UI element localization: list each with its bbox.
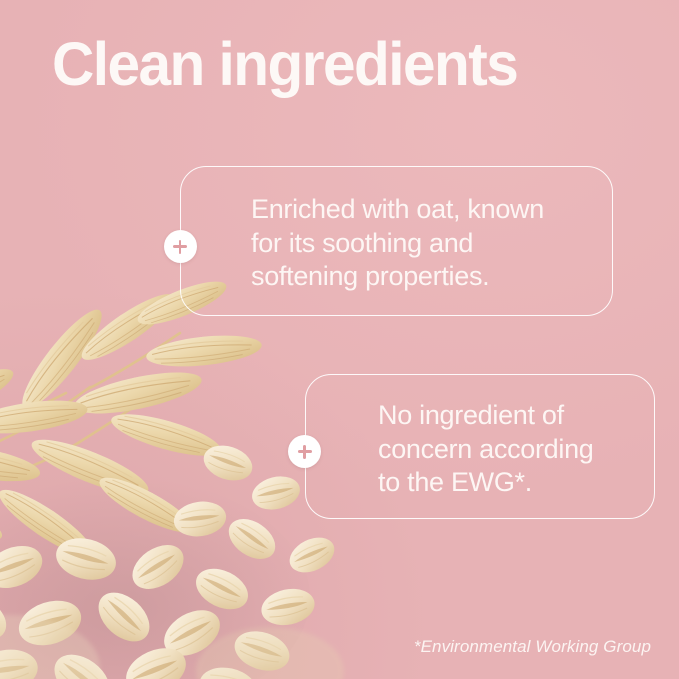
plus-icon[interactable] xyxy=(164,230,197,263)
plus-icon[interactable] xyxy=(288,435,321,468)
plus-icon-vertical-bar xyxy=(303,445,306,459)
promo-graphic: Clean ingredients Enriched with oat, kno… xyxy=(0,0,679,679)
benefit-card-oat-text: Enriched with oat, known for its soothin… xyxy=(251,193,544,294)
background-vignette xyxy=(0,0,679,679)
footnote: *Environmental Working Group xyxy=(414,637,651,657)
benefit-card-ewg[interactable]: No ingredient of concern according to th… xyxy=(305,374,655,519)
benefit-card-oat[interactable]: Enriched with oat, known for its soothin… xyxy=(180,166,613,316)
page-title: Clean ingredients xyxy=(52,30,517,98)
benefit-card-ewg-text: No ingredient of concern according to th… xyxy=(378,399,594,500)
plus-icon-vertical-bar xyxy=(179,240,182,254)
